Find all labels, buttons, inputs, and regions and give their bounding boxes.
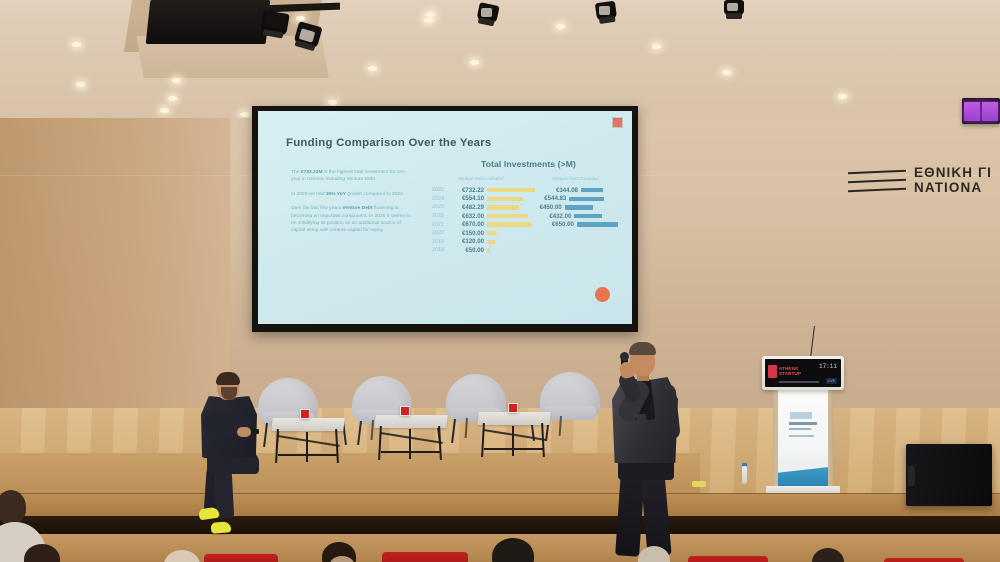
slide-body-text: The €732.22M is the highest total invest… — [291, 169, 413, 242]
left-wall-shadow — [0, 118, 230, 418]
chart-value-included: €670.00 — [450, 221, 484, 228]
chart-value-excluded: €344.08 — [542, 187, 578, 194]
audience-seat — [884, 558, 964, 562]
three-bars-logo-icon — [848, 171, 906, 197]
ceiling-downlight — [168, 96, 177, 101]
led-stage-light-panel — [962, 98, 1000, 124]
chart-cell-included: €50.00 — [450, 247, 490, 254]
ceiling-downlight — [426, 12, 435, 17]
ceiling-downlight — [160, 108, 169, 113]
led-cell — [964, 102, 980, 121]
slide-paragraph: The €732.22M is the highest total invest… — [291, 169, 413, 184]
chart-bar-excluded — [569, 197, 603, 201]
chart-cell-excluded: €650.00 — [538, 221, 618, 228]
chart-value-included: €120.00 — [450, 238, 484, 245]
podium-text-line — [789, 435, 814, 437]
chart-value-excluded: €432.00 — [535, 213, 571, 220]
podium-logo-icon — [768, 365, 777, 378]
chart-bar-included — [487, 222, 531, 226]
lighting-rig — [146, 0, 271, 44]
stage-light-lens — [599, 6, 610, 15]
projection-screen: Funding Comparison Over the Years The €7… — [252, 106, 638, 332]
ceiling-downlight — [76, 82, 85, 87]
chart-bar-excluded — [577, 222, 618, 226]
ceiling-downlight — [470, 60, 479, 65]
ceiling-downlight — [296, 16, 305, 21]
chart-bar-included — [487, 231, 497, 235]
chart-value-included: €554.10 — [450, 195, 484, 202]
microphone-capsule-icon — [620, 352, 629, 361]
chart-year-label: 2024 — [426, 196, 450, 202]
chart-cell-excluded: €544.83 — [530, 195, 603, 202]
chart-row: 2025€732.22€344.08 — [426, 186, 631, 195]
table-marker-cube — [508, 403, 518, 413]
chart-year-label: 2021 — [426, 222, 450, 228]
chart-cell-included: €732.22 — [450, 187, 535, 194]
podium-clock: 17:11 — [819, 363, 837, 370]
ceiling-downlight — [556, 24, 565, 29]
chart-year-label: 2019 — [426, 239, 450, 245]
chart-value-included: €632.00 — [450, 213, 484, 220]
chart-year-label: 2022 — [426, 213, 450, 219]
table-marker-cube — [300, 409, 310, 419]
podium-live-badge: LIVE — [826, 378, 837, 384]
orange-circle-decoration — [595, 287, 610, 302]
speaker-podium: ATHENS STARTUP 17:11 LIVE — [760, 348, 846, 496]
chart-row: 2022€632.00€432.00 — [426, 212, 631, 221]
chart-cell-included: €120.00 — [450, 238, 495, 245]
chart-value-included: €150.00 — [450, 230, 484, 237]
yellow-sneaker — [198, 507, 219, 521]
chart-row: 2018€50.00 — [426, 246, 631, 255]
stage-light-lens — [727, 3, 738, 11]
standing-speaker — [600, 340, 696, 558]
chart-cell-included: €554.10 — [450, 195, 523, 202]
chart-year-label: 2025 — [426, 187, 450, 193]
audience-seat — [688, 556, 768, 562]
podium-screen-subtext — [779, 381, 819, 383]
chart-legend: Venture Debt included Venture Debt Exclu… — [426, 176, 631, 184]
slide-paragraph: In 2025 we had 35% YoY growth compared t… — [291, 191, 413, 198]
venue-signage: ΕΘΝΙΚΗ ΓΙ NATIONA — [848, 160, 1000, 212]
podium-display: ATHENS STARTUP 17:11 LIVE — [762, 356, 844, 390]
chart-value-included: €732.22 — [450, 187, 484, 194]
stage-base-shadow — [0, 516, 1000, 536]
ceiling-downlight — [722, 70, 731, 75]
chart-bar-excluded — [565, 205, 593, 209]
audience-seat — [204, 554, 278, 562]
chart-cell-excluded: €450.00 — [526, 204, 593, 211]
pa-loudspeaker — [906, 444, 992, 506]
led-cell — [982, 102, 998, 121]
chart-cell-excluded: €344.08 — [542, 187, 603, 194]
audience-head — [164, 550, 200, 562]
audience-head — [492, 538, 534, 562]
chart-year-label: 2018 — [426, 247, 450, 253]
legend-series-included: Venture Debt included — [458, 176, 504, 181]
stage-light — [260, 10, 289, 36]
presentation-slide: Funding Comparison Over the Years The €7… — [258, 111, 632, 324]
podium-text-line — [789, 428, 811, 430]
seated-panelist — [193, 374, 273, 534]
chart-row: 2023€482.29€450.00 — [426, 203, 631, 212]
signage-line-english: NATIONA — [914, 181, 992, 196]
podium-base — [766, 486, 840, 493]
chart-bar-included — [487, 240, 495, 244]
chart-value-excluded: €450.00 — [526, 204, 562, 211]
chart-bar-included — [487, 197, 523, 201]
chart-value-excluded: €544.83 — [530, 195, 566, 202]
ceiling-downlight — [652, 44, 661, 49]
chart-title: Total Investments (>M) — [426, 159, 631, 169]
legend-series-excluded: Venture Debt Excluded — [552, 176, 599, 181]
chart-year-label: 2023 — [426, 204, 450, 210]
chart-bar-included — [487, 188, 535, 192]
chart-year-label: 2020 — [426, 230, 450, 236]
chart-cell-included: €632.00 — [450, 213, 528, 220]
podium-front-panel — [778, 390, 828, 486]
water-bottle — [742, 466, 747, 484]
chart-value-excluded: €650.00 — [538, 221, 574, 228]
stage-light-lens — [481, 8, 492, 17]
ceiling-downlight — [328, 100, 337, 105]
audience-head — [812, 548, 844, 562]
chart-rows: 2025€732.22€344.082024€554.10€544.832023… — [426, 186, 631, 255]
chart-row: 2020€150.00 — [426, 229, 631, 238]
chart-value-included: €482.29 — [450, 204, 484, 211]
chart-cell-included: €482.29 — [450, 204, 519, 211]
ceiling-downlight — [172, 78, 181, 83]
pa-loudspeaker-handle — [908, 466, 915, 486]
chart-row: 2024€554.10€544.83 — [426, 195, 631, 204]
orange-square-logo-icon — [612, 117, 623, 128]
conference-stage-photo: ΕΘΝΙΚΗ ΓΙ NATIONA Funding Comparison Ove… — [0, 0, 1000, 562]
slide-title: Funding Comparison Over the Years — [286, 137, 492, 149]
investments-chart: Total Investments (>M) Venture Debt incl… — [426, 159, 631, 255]
slide-paragraph: Over the last few years Venture Debt fin… — [291, 205, 413, 235]
audience-seat — [382, 552, 468, 562]
ceiling-downlight — [72, 42, 81, 47]
chart-bar-excluded — [574, 214, 601, 218]
ceiling — [0, 0, 1000, 120]
chart-bar-included — [487, 248, 490, 252]
chart-bar-included — [487, 214, 528, 218]
ceiling-downlight — [368, 66, 377, 71]
yellow-sneaker — [211, 521, 232, 533]
chart-bar-excluded — [581, 188, 603, 192]
chart-cell-included: €670.00 — [450, 221, 531, 228]
podium-text-line — [789, 422, 817, 425]
stage-object-yellow — [692, 481, 706, 487]
stage-front-face — [0, 494, 1000, 518]
ceiling-downlight — [240, 112, 249, 117]
podium-brand-text: ATHENS STARTUP — [779, 366, 801, 376]
audience-head — [638, 546, 670, 562]
audience-head — [24, 544, 60, 562]
ceiling-downlight — [424, 18, 433, 23]
chart-cell-excluded: €432.00 — [535, 213, 601, 220]
signage-text: ΕΘΝΙΚΗ ΓΙ NATIONA — [914, 166, 992, 195]
ceiling-downlight — [838, 94, 847, 99]
chart-value-included: €50.00 — [450, 247, 484, 254]
audience-head — [0, 490, 26, 524]
chart-row: 2021€670.00€650.00 — [426, 220, 631, 229]
podium-logo-mark — [790, 412, 812, 419]
chart-cell-included: €150.00 — [450, 230, 497, 237]
table-marker-cube — [400, 406, 410, 416]
audience-foreground — [0, 534, 1000, 562]
podium-post — [828, 390, 833, 488]
chart-bar-included — [487, 205, 519, 209]
chart-row: 2019€120.00 — [426, 238, 631, 247]
signage-line-greek: ΕΘΝΙΚΗ ΓΙ — [914, 166, 992, 181]
